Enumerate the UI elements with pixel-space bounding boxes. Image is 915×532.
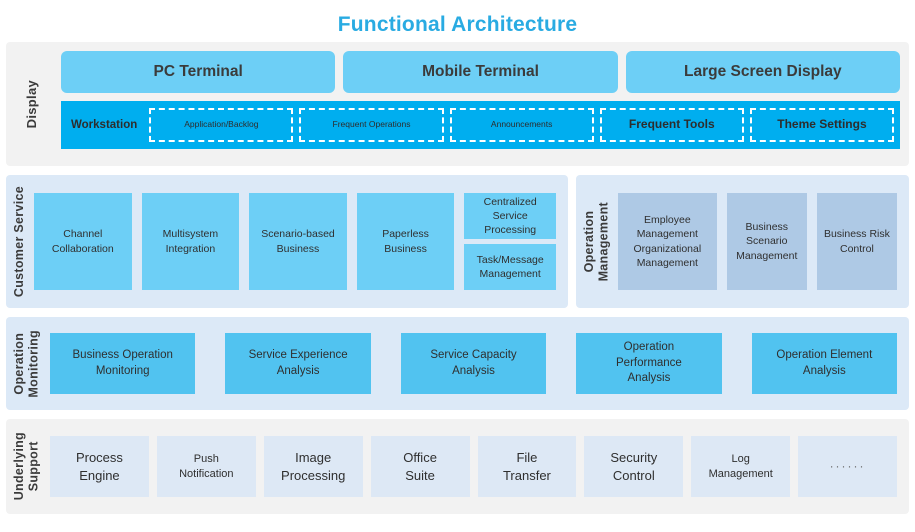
us-box-log-management[interactable]: Log Management: [691, 436, 790, 497]
workstation-item-frequent-operations[interactable]: Frequent Operations: [299, 108, 443, 142]
cs-box-centralized-service-processing[interactable]: Centralized Service Processing: [464, 193, 556, 239]
mon-box-service-capacity-analysis[interactable]: Service Capacity Analysis: [401, 333, 546, 394]
middle-row: Customer Service Channel Collaboration M…: [6, 175, 909, 308]
underlying-support-band: Underlying Support Process Engine Push N…: [6, 419, 909, 514]
workstation-row: Workstation Application/Backlog Frequent…: [61, 101, 900, 149]
underlying-support-band-label: Underlying Support: [6, 419, 46, 514]
terminal-box-large-screen[interactable]: Large Screen Display: [626, 51, 900, 93]
om-box-business-risk-control[interactable]: Business Risk Control: [817, 193, 897, 290]
cs-box-multisystem-integration[interactable]: Multisystem Integration: [142, 193, 240, 290]
us-box-file-transfer[interactable]: File Transfer: [478, 436, 577, 497]
display-band-label: Display: [6, 42, 58, 166]
mon-box-operation-element-analysis[interactable]: Operation Element Analysis: [752, 333, 897, 394]
operation-management-boxes: Employee Management Organizational Manag…: [616, 175, 909, 308]
terminal-row: PC Terminal Mobile Terminal Large Screen…: [58, 42, 909, 93]
operation-management-label-text: Operation Management: [582, 202, 611, 281]
workstation-item-application-backlog[interactable]: Application/Backlog: [149, 108, 293, 142]
operation-monitoring-band-label: Operation Monitoring: [6, 317, 46, 410]
underlying-support-label-text: Underlying Support: [12, 432, 41, 500]
cs-box-channel-collaboration[interactable]: Channel Collaboration: [34, 193, 132, 290]
us-box-security-control[interactable]: Security Control: [584, 436, 683, 497]
cs-box-paperless-business[interactable]: Paperless Business: [357, 193, 455, 290]
customer-service-band-label: Customer Service: [6, 175, 32, 308]
operation-management-band: Operation Management Employee Management…: [576, 175, 909, 308]
customer-service-label-text: Customer Service: [12, 186, 26, 297]
om-box-employee-management[interactable]: Employee Management Organizational Manag…: [618, 193, 717, 290]
operation-management-band-label: Operation Management: [576, 175, 616, 308]
us-box-more-ellipsis: ······: [798, 436, 897, 497]
mon-box-business-operation-monitoring[interactable]: Business Operation Monitoring: [50, 333, 195, 394]
display-band: Display PC Terminal Mobile Terminal Larg…: [6, 42, 909, 166]
us-box-push-notification[interactable]: Push Notification: [157, 436, 256, 497]
operation-management-band-body: Employee Management Organizational Manag…: [616, 175, 909, 308]
us-box-process-engine[interactable]: Process Engine: [50, 436, 149, 497]
terminal-box-pc[interactable]: PC Terminal: [61, 51, 335, 93]
workstation-item-theme-settings[interactable]: Theme Settings: [750, 108, 894, 142]
us-box-office-suite[interactable]: Office Suite: [371, 436, 470, 497]
workstation-label: Workstation: [67, 119, 143, 131]
terminal-box-mobile[interactable]: Mobile Terminal: [343, 51, 617, 93]
operation-monitoring-band-body: Business Operation Monitoring Service Ex…: [46, 317, 909, 410]
customer-service-boxes: Channel Collaboration Multisystem Integr…: [32, 175, 568, 308]
customer-service-band: Customer Service Channel Collaboration M…: [6, 175, 568, 308]
cs-box-scenario-based-business[interactable]: Scenario-based Business: [249, 193, 347, 290]
customer-service-band-body: Channel Collaboration Multisystem Integr…: [32, 175, 568, 308]
mon-box-operation-performance-analysis[interactable]: Operation Performance Analysis: [576, 333, 721, 394]
workstation-item-frequent-tools[interactable]: Frequent Tools: [600, 108, 744, 142]
operation-monitoring-boxes: Business Operation Monitoring Service Ex…: [46, 317, 909, 410]
workstation-item-announcements[interactable]: Announcements: [450, 108, 594, 142]
display-label-text: Display: [25, 80, 40, 128]
underlying-support-band-body: Process Engine Push Notification Image P…: [46, 419, 909, 514]
page-title: Functional Architecture: [0, 0, 915, 38]
cs-box-task-message-management[interactable]: Task/Message Management: [464, 244, 556, 290]
operation-monitoring-label-text: Operation Monitoring: [12, 330, 41, 398]
underlying-support-boxes: Process Engine Push Notification Image P…: [46, 419, 909, 514]
om-box-business-scenario-management[interactable]: Business Scenario Management: [727, 193, 807, 290]
operation-monitoring-band: Operation Monitoring Business Operation …: [6, 317, 909, 410]
display-band-body: PC Terminal Mobile Terminal Large Screen…: [58, 42, 909, 166]
cs-split-column: Centralized Service Processing Task/Mess…: [464, 193, 556, 290]
us-box-image-processing[interactable]: Image Processing: [264, 436, 363, 497]
mon-box-service-experience-analysis[interactable]: Service Experience Analysis: [225, 333, 370, 394]
